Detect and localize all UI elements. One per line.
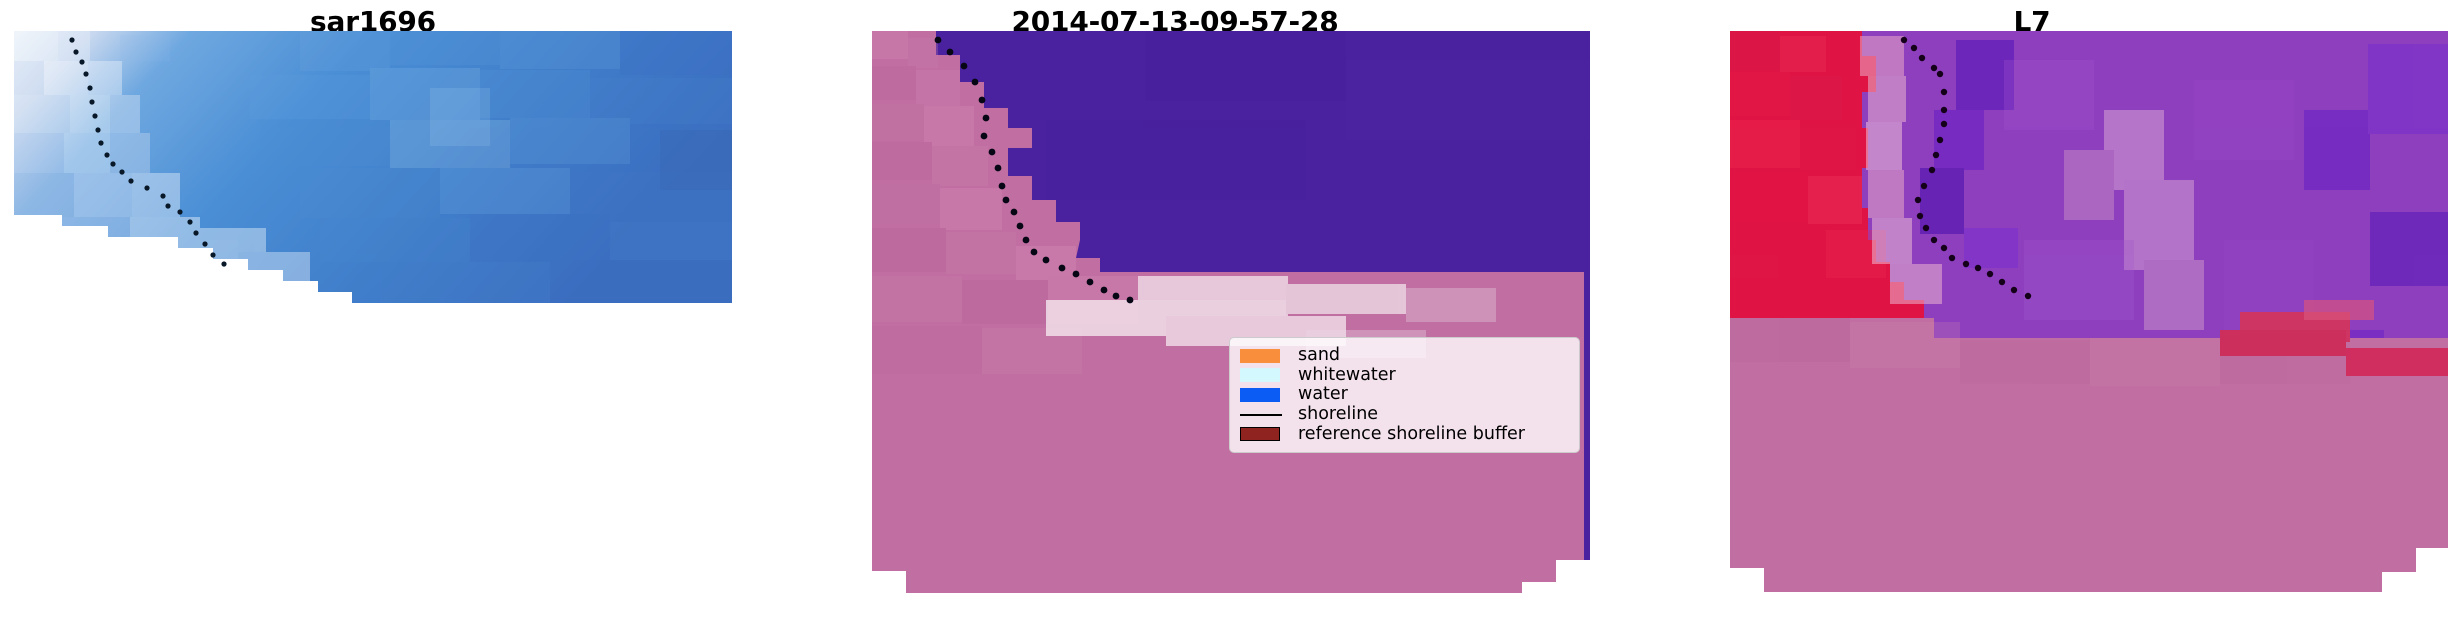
map-legend: sand whitewater water shoreline referenc [1229, 337, 1580, 453]
legend-label-water: water [1298, 385, 1348, 404]
legend-label-whitewater: whitewater [1298, 366, 1396, 385]
whitewater-color-icon [1240, 368, 1280, 382]
date-classified-image [746, 0, 1604, 627]
figure-root: sar1696 [0, 0, 2460, 627]
reference-shoreline-buffer-color-icon [1240, 427, 1280, 441]
shoreline-swatch-wrap [1240, 405, 1288, 424]
sar1696-image [0, 0, 746, 627]
panel-l7: L7 [1604, 0, 2460, 627]
whitewater-swatch-wrap [1240, 366, 1288, 385]
water-color-icon [1240, 388, 1280, 402]
legend-label-reference-shoreline-buffer: reference shoreline buffer [1298, 425, 1525, 444]
sand-color-icon [1240, 349, 1280, 363]
legend-item-sand: sand [1240, 346, 1569, 366]
shoreline-line-icon [1240, 414, 1282, 416]
legend-item-water: water [1240, 385, 1569, 405]
legend-item-whitewater: whitewater [1240, 366, 1569, 386]
legend-label-shoreline: shoreline [1298, 405, 1378, 424]
l7-image [1604, 0, 2460, 627]
legend-item-shoreline: shoreline [1240, 405, 1569, 425]
sand-swatch-wrap [1240, 346, 1288, 365]
panel-2014-07-13-09-57-28: 2014-07-13-09-57-28 [746, 0, 1604, 627]
legend-item-reference-shoreline-buffer: reference shoreline buffer [1240, 424, 1569, 444]
reference-buffer-swatch-wrap [1240, 425, 1288, 444]
panel-sar1696: sar1696 [0, 0, 746, 627]
water-swatch-wrap [1240, 385, 1288, 404]
legend-label-sand: sand [1298, 346, 1340, 365]
